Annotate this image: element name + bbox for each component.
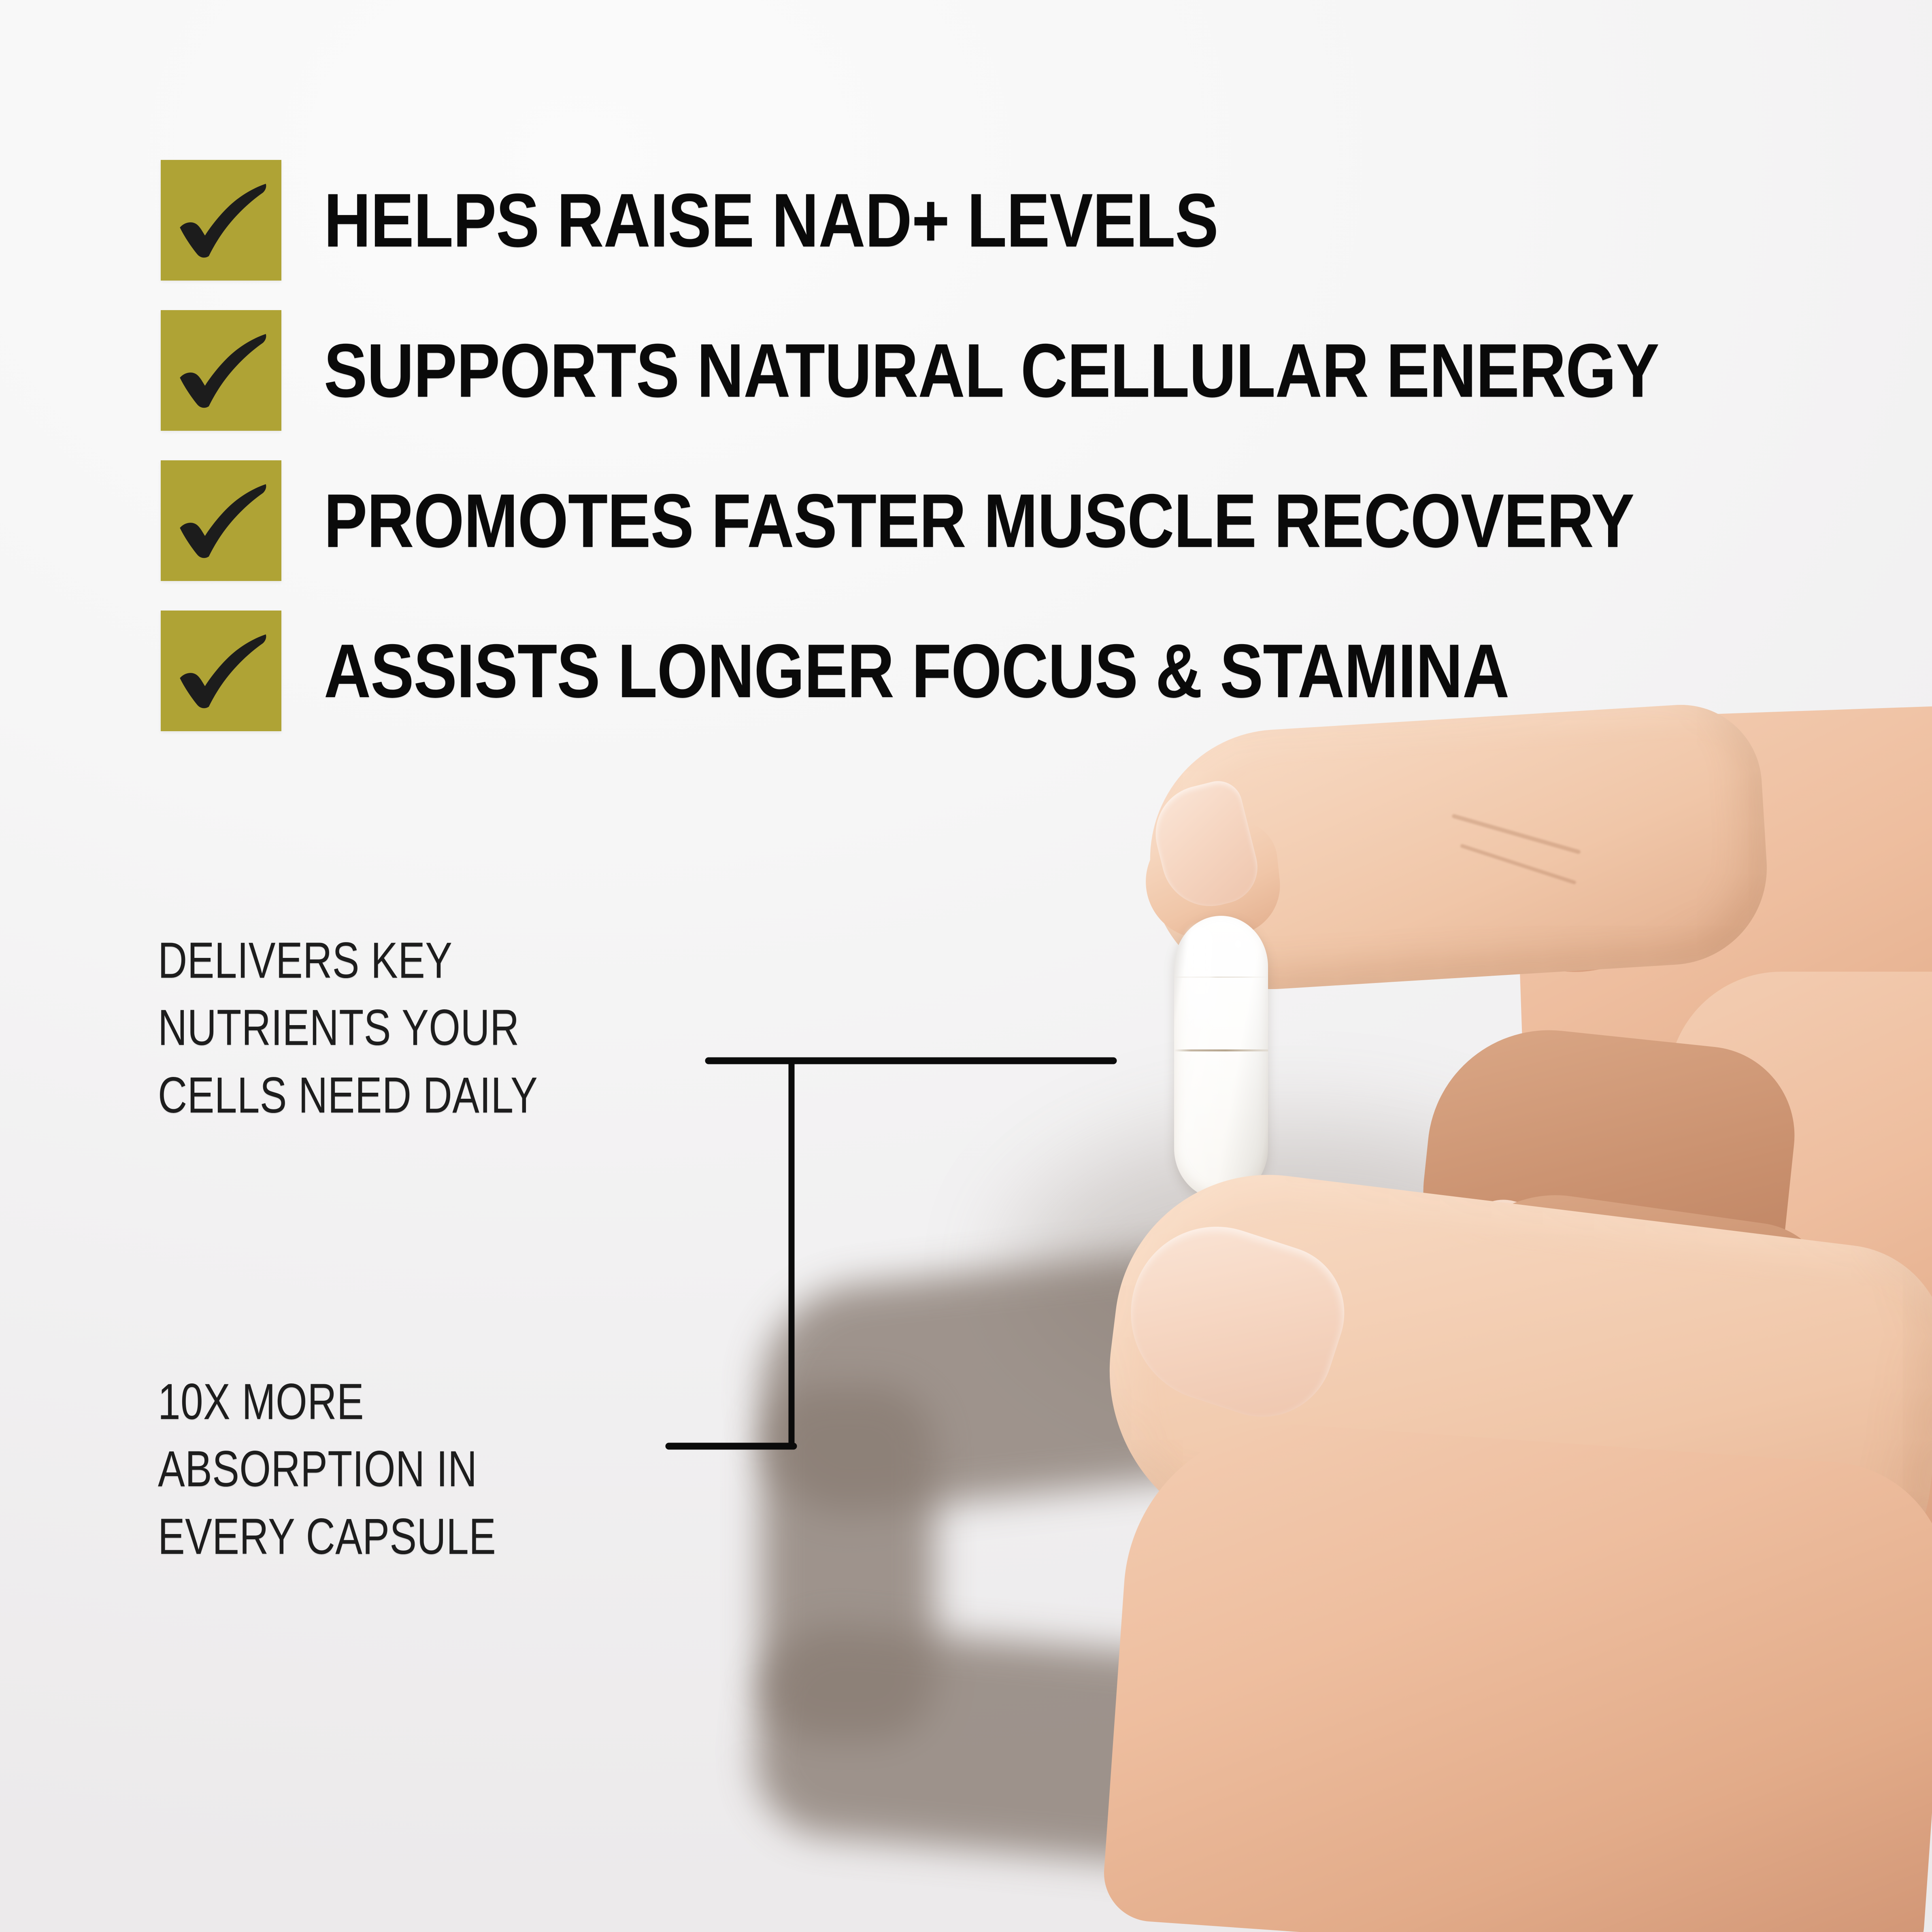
hand-shadow-right-column [1258,1319,1544,1741]
capsule-cap-edge [1174,977,1268,978]
benefit-label: ASSISTS LONGER FOCUS & STAMINA [324,635,1509,707]
folded-finger-middle-nail [1454,1191,1639,1311]
capsule-pill [1174,916,1268,1199]
capsule-highlight [1186,926,1213,1032]
product-benefits-graphic: DELIVERS KEY NUTRIENTS YOUR CELLS NEED D… [0,0,1932,1932]
folded-finger-middle [1411,1018,1803,1338]
hand-shadow-upper [751,1232,1379,1521]
check-mark-icon [161,310,281,431]
thumb [1090,1157,1932,1620]
thumb-nail [1108,1204,1362,1435]
folded-finger-ring [1428,1181,1844,1459]
index-finger-nail [1145,776,1265,917]
check-mark-icon [161,160,281,281]
finger-crease [1451,814,1581,855]
leader-lines [660,1049,1130,1462]
finger-crease [1460,844,1577,885]
benefit-row: ASSISTS LONGER FOCUS & STAMINA [161,611,1740,731]
index-finger-tip [1140,817,1285,944]
capsule-seam [1174,1049,1268,1051]
thumb-base [1101,1413,1932,1932]
capsule-specular-dot [1235,940,1241,948]
benefit-row: PROMOTES FASTER MUSCLE RECOVERY [161,460,1740,581]
benefit-row: HELPS RAISE NAD+ LEVELS [161,160,1740,281]
check-mark-icon [161,611,281,731]
palm [1511,704,1932,1368]
callout-ten-x-absorption: 10X MORE ABSORPTION IN EVERY CAPSULE [158,1368,709,1570]
hand-shadow-lower [749,1619,1514,1894]
benefit-checklist: HELPS RAISE NAD+ LEVELS SUPPORTS NATURAL… [161,160,1740,761]
benefit-label: PROMOTES FASTER MUSCLE RECOVERY [324,485,1634,557]
hand-shadow-left-column [761,1385,935,1741]
hand-shadow-soft [1012,1126,1579,1409]
folded-finger-ring-nail [1517,1290,1738,1402]
benefit-row: SUPPORTS NATURAL CELLULAR ENERGY [161,310,1740,431]
palm-lower [1668,972,1932,1660]
callout-delivers-key-nutrients: DELIVERS KEY NUTRIENTS YOUR CELLS NEED D… [158,927,709,1129]
benefit-label: HELPS RAISE NAD+ LEVELS [324,184,1218,257]
check-mark-icon [161,460,281,581]
index-finger-knuckle [1458,729,1700,979]
benefit-label: SUPPORTS NATURAL CELLULAR ENERGY [324,334,1659,407]
